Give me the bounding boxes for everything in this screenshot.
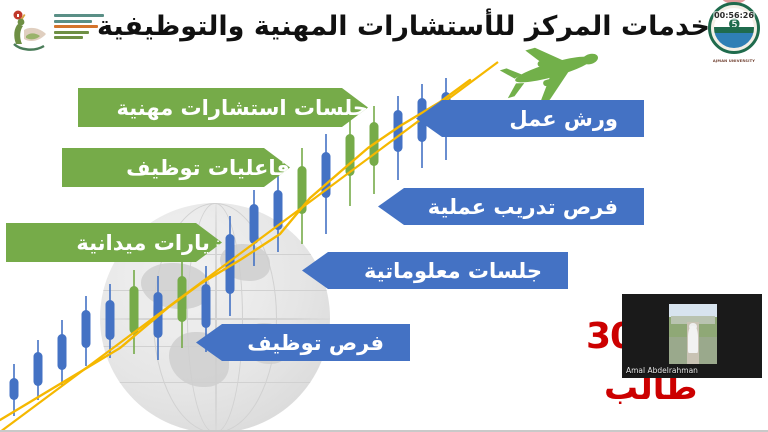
career-center-mark-icon [8, 10, 52, 56]
candle-body [130, 286, 139, 334]
service-arrow-label: فرص توظيف [196, 331, 384, 355]
seal-caption: AJMAN UNIVERSITY [708, 59, 760, 63]
service-arrow-label: ورش عمل [416, 107, 618, 131]
service-arrow-career-counselling[interactable]: جلسات استشارات مهنية [78, 88, 368, 127]
session-timer: 00:56:26 [713, 11, 755, 20]
candle-body [250, 204, 259, 244]
candle-body [58, 334, 67, 370]
service-arrow-label: جلسات استشارات مهنية [104, 96, 368, 120]
candle-body [10, 378, 19, 400]
participant-name-label: Amal Abdelrahman [626, 366, 698, 375]
presentation-slide: خدمات المركز للأستشارات المهنية والتوظيف… [0, 0, 768, 432]
candle-body [394, 110, 403, 152]
service-arrow-workshops[interactable]: ورش عمل [416, 100, 644, 137]
service-arrow-field-visits[interactable]: زيارات ميدانية [6, 223, 222, 262]
candle-body [34, 352, 43, 386]
service-arrow-employment-events[interactable]: فاعليات توظيف [62, 148, 290, 187]
university-career-center-logo [8, 6, 104, 58]
ajman-university-seal: ❺ 00:56:26 AJMAN UNIVERSITY [708, 2, 760, 54]
candle-body [202, 284, 211, 328]
participant-video-feed [669, 304, 717, 364]
candle-body [106, 300, 115, 340]
service-arrow-label: فاعليات توظيف [88, 156, 290, 180]
career-center-logo-wordmark [54, 14, 104, 42]
service-arrow-label: جلسات معلوماتية [302, 259, 542, 283]
service-arrow-label: زيارات ميدانية [32, 231, 222, 255]
service-arrow-job-opportunities[interactable]: فرص توظيف [196, 324, 410, 361]
candle-body [82, 310, 91, 348]
participant-video-tile[interactable]: Amal Abdelrahman [622, 294, 762, 378]
service-arrow-info-sessions[interactable]: جلسات معلوماتية [302, 252, 568, 289]
service-arrow-internship-opportunities[interactable]: فرص تدريب عملية [378, 188, 644, 225]
airplane-icon [492, 40, 612, 102]
page-title: خدمات المركز للأستشارات المهنية والتوظيف… [110, 6, 710, 48]
service-arrow-label: فرص تدريب عملية [378, 195, 618, 219]
